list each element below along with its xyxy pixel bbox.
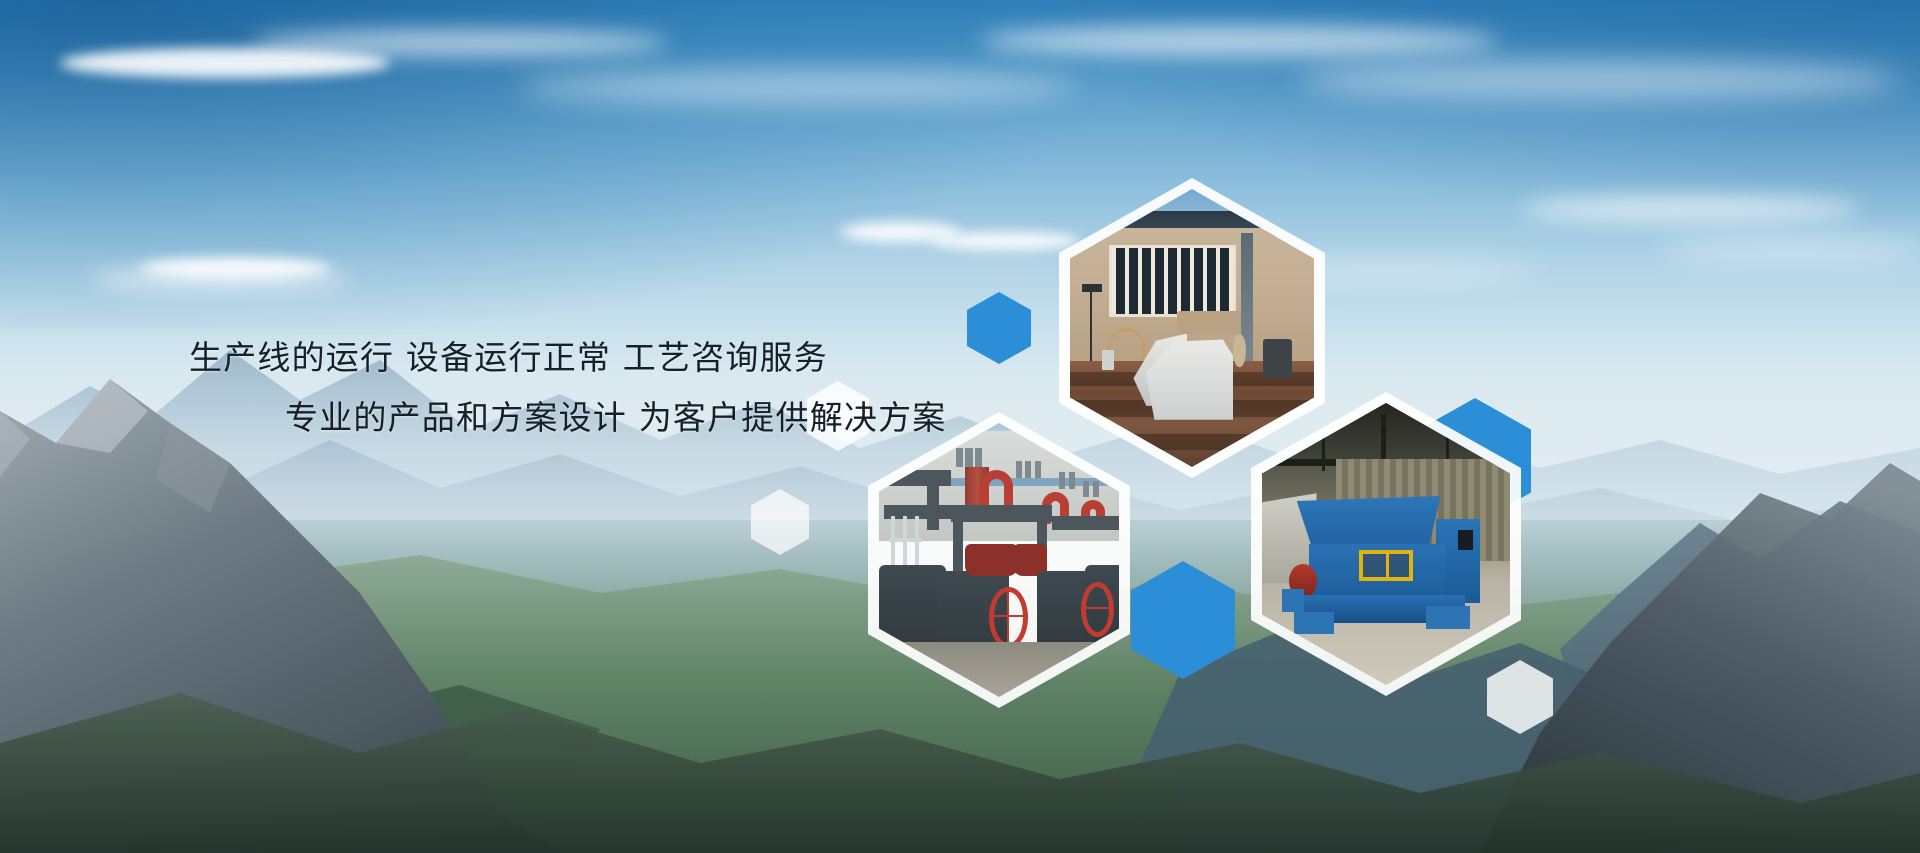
hex-photo-middle-image [879,423,1119,697]
scene-blue-shredder [1262,403,1510,685]
cloud [1660,240,1920,262]
cloud [980,26,1500,56]
cloud [930,232,1080,250]
cloud [1520,196,1860,222]
hero-banner: 生产线的运行 设备运行正常 工艺咨询服务 专业的产品和方案设计 为客户提供解决方… [0,0,1920,853]
cloud [250,30,670,56]
scene-grey-ladles [879,423,1119,697]
scene-white-casting-machine [1070,189,1314,467]
hex-photo-top-image [1070,189,1314,467]
background-landscape [0,0,1920,853]
hex-photo-right-image [1262,403,1510,685]
cloud [520,70,1080,104]
cloud [90,268,350,290]
cloud [1300,60,1900,100]
